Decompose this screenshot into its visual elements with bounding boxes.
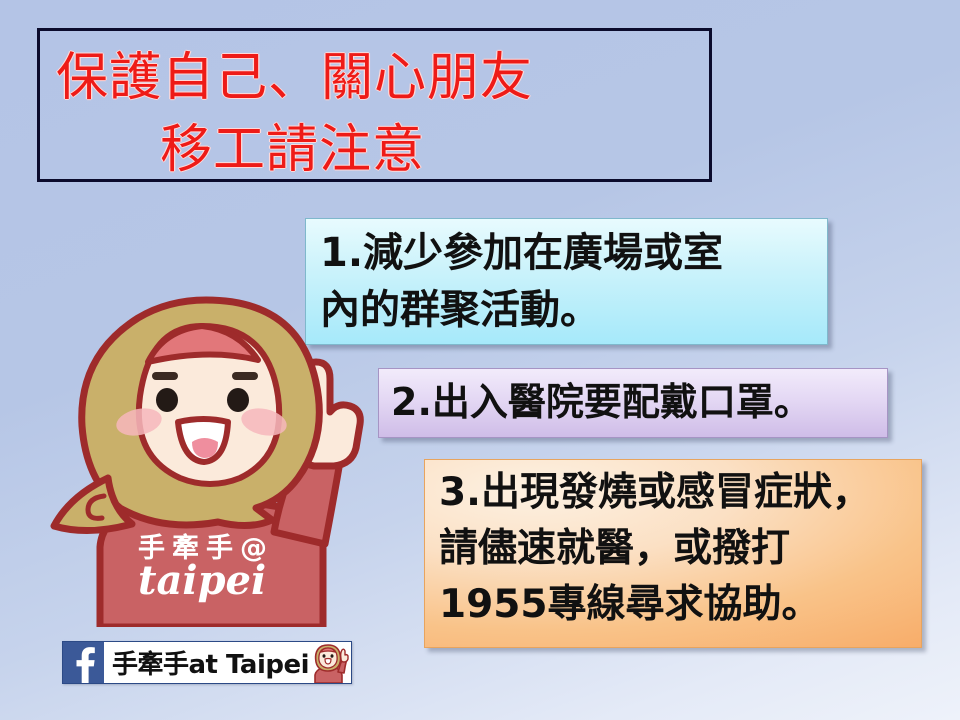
tip-3-line-3: 1955專線尋求協助。 [439,577,913,633]
tip-1-line-1: 1.減少參加在廣場或室 [320,225,817,282]
tip-box-2: 2.出入醫院要配戴口罩。 [378,368,888,438]
title-box: 保護自己、關心朋友 移工請注意 [37,28,712,182]
title-line-2: 移工請注意 [160,114,425,187]
mascot-shirt-line-2: taipei [138,557,266,604]
tip-3-line-2: 請儘速就醫，或撥打 [439,521,913,577]
tip-2-line-1: 2.出入醫院要配戴口罩。 [391,375,881,430]
mascot-shirt-text-group: 手牽手@ taipei [138,532,274,604]
facebook-f-icon [63,642,104,683]
facebook-badge[interactable]: 手牽手at Taipei [62,641,352,684]
tip-1-line-2: 內的群聚活動。 [320,282,817,339]
poster-canvas: 保護自己、關心朋友 移工請注意 1.減少參加在廣場或室 內的群聚活動。 2.出入… [0,0,960,720]
tip-3-line-1: 3.出現發燒或感冒症狀， [439,465,913,521]
facebook-badge-label: 手牽手at Taipei [104,644,309,681]
mascot-illustration: 手牽手@ taipei [42,282,372,627]
tip-box-3: 3.出現發燒或感冒症狀， 請儘速就醫，或撥打 1955專線尋求協助。 [424,459,922,648]
mascot-mini-icon [309,642,349,683]
tip-box-1: 1.減少參加在廣場或室 內的群聚活動。 [305,218,828,345]
title-line-1: 保護自己、關心朋友 [56,42,533,115]
